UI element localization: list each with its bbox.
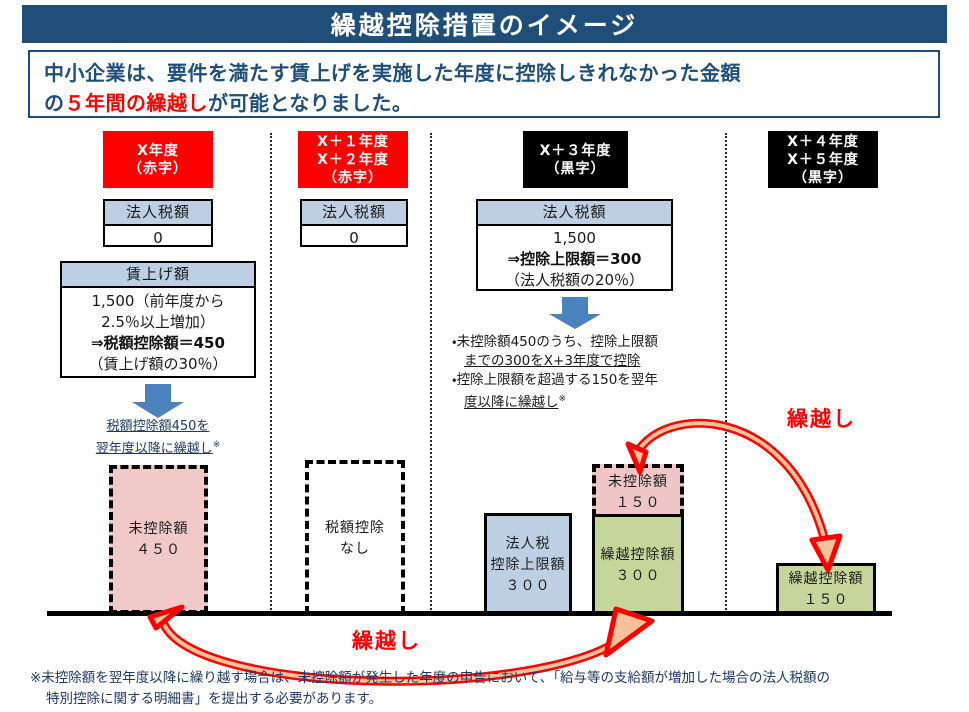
page-title-bar: 繰越控除措置のイメージ (22, 5, 947, 43)
tax-table-x1-x2: 法人税額 0 (300, 199, 408, 247)
column-divider-2 (430, 133, 432, 614)
carryover-note-x-line1: 税額控除額450を (107, 419, 210, 434)
carryover-arrow-right-label: 繰越し (787, 403, 856, 433)
bar-no-deduction-label1: 税額控除 (325, 518, 385, 539)
raise-table-x-line4: （賃上げ額の30％） (66, 354, 250, 375)
column-divider-1 (270, 133, 272, 614)
carryover-note-x: 税額控除額450を 翌年度以降に繰越し※ (60, 418, 256, 458)
bar-undeducted-150: 未控除額 １５０ (592, 464, 684, 517)
bullet-item-1-line2: までの300をX+3年度で控除 (464, 353, 640, 369)
raise-table-x-line2: 2.5％以上増加） (66, 312, 250, 333)
year-chip-x3: X＋３年度 （黒字） (523, 131, 628, 188)
page-title: 繰越控除措置のイメージ (331, 6, 639, 42)
year-chip-x: X年度 （赤字） (103, 131, 213, 188)
raise-table-x-header: 賃上げ額 (62, 263, 254, 288)
bullets-x3: ・未控除額450のうち、控除上限額 までの300をX+3年度で控除 ・控除上限額… (452, 333, 714, 413)
tax-table-x3-line2: ⇒控除上限額＝300 (482, 249, 667, 270)
bullet-item-2-line1: 控除上限額を超過する150を翌年 (457, 372, 658, 388)
bar-carryover-deduction-150-label: 繰越控除額 (789, 569, 864, 590)
year-chip-x1-x2-line2: X＋２年度 (317, 151, 389, 169)
bar-no-deduction: 税額控除 なし (305, 460, 405, 614)
bar-undeducted-450-value: ４５０ (136, 540, 181, 561)
bar-carryover-deduction-300-label: 繰越控除額 (601, 545, 676, 566)
footnote-line-2: 特別控除に関する明細書」を提出する必要があります。 (30, 689, 950, 710)
bar-undeducted-450: 未控除額 ４５０ (109, 465, 208, 614)
bar-undeducted-150-label: 未控除額 (608, 472, 668, 493)
bar-carryover-deduction-150: 繰越控除額 １５０ (776, 563, 876, 614)
carryover-note-x-mark: ※ (213, 440, 221, 450)
year-chip-x4-x5: X＋４年度 X＋５年度 （黒字） (768, 131, 878, 188)
bullet-item-1-line1: 未控除額450のうち、控除上限額 (457, 334, 658, 350)
tax-table-x3: 法人税額 1,500 ⇒控除上限額＝300 （法人税額の20％） (476, 199, 673, 291)
year-chip-x-line1: X年度 (137, 142, 179, 160)
tax-table-x3-line1: 1,500 (482, 228, 667, 249)
raise-table-x-line3: ⇒税額控除額＝450 (66, 333, 250, 354)
footnote-line-1: ※未控除額を翌年度以降に繰り越す場合は、未控除額が発生した年度の申告において、「… (30, 668, 950, 689)
down-arrow-icon-2 (545, 297, 605, 329)
carryover-arrow-bottom-label: 繰越し (352, 625, 421, 655)
tax-table-x3-header: 法人税額 (478, 201, 671, 226)
bar-undeducted-450-label: 未控除額 (129, 519, 189, 540)
chart-baseline (47, 611, 892, 616)
tax-table-x3-line3: （法人税額の20％） (482, 270, 667, 291)
carryover-note-x-line2: 翌年度以降に繰越し (96, 441, 213, 456)
year-chip-x3-line2: （黒字） (546, 160, 606, 178)
subtitle-line-2: の５年間の繰越しが可能となりました。 (44, 88, 926, 118)
year-chip-x1-x2: X＋１年度 X＋２年度 （赤字） (298, 131, 408, 188)
bullet-item-2-sup: ※ (559, 394, 567, 404)
raise-table-x-line1: 1,500（前年度から (66, 291, 250, 312)
bar-corporate-tax-limit-300: 法人税 控除上限額 ３００ (484, 513, 572, 614)
subtitle-line2-post: が可能となりました。 (208, 91, 412, 115)
bar-carryover-deduction-150-value: １５０ (804, 590, 849, 611)
subtitle-line-1: 中小企業は、要件を満たす賃上げを実施した年度に控除しきれなかった金額 (44, 58, 926, 88)
bar-corporate-tax-limit-300-label1: 法人税 (506, 534, 551, 555)
subtitle-line2-pre: の (44, 91, 65, 115)
column-divider-3 (725, 133, 727, 614)
tax-table-x1-x2-header: 法人税額 (302, 201, 406, 226)
bar-carryover-deduction-300: 繰越控除額 ３００ (592, 514, 684, 614)
tax-table-x1-x2-value: 0 (302, 226, 406, 251)
bar-no-deduction-label2: なし (340, 539, 370, 560)
footnote: ※未控除額を翌年度以降に繰り越す場合は、未控除額が発生した年度の申告において、「… (30, 668, 950, 710)
year-chip-x4-x5-line1: X＋４年度 (787, 133, 859, 151)
bar-carryover-deduction-300-value: ３００ (616, 566, 661, 587)
bullet-item-1: ・未控除額450のうち、控除上限額 までの300をX+3年度で控除 (452, 333, 714, 371)
year-chip-x-line2: （赤字） (128, 160, 188, 178)
tax-table-x: 法人税額 0 (103, 199, 213, 247)
bar-undeducted-150-value: １５０ (616, 493, 661, 514)
year-chip-x1-x2-line1: X＋１年度 (317, 133, 389, 151)
year-chip-x4-x5-line3: （黒字） (793, 169, 853, 187)
bar-corporate-tax-limit-300-label2: 控除上限額 (491, 555, 566, 576)
year-chip-x3-line1: X＋３年度 (540, 142, 612, 160)
bullet-item-2: ・控除上限額を超過する150を翌年 度以降に繰越し※ (452, 371, 714, 413)
bullet-item-2-line2: 度以降に繰越し (464, 395, 559, 411)
diagram-canvas: 繰越控除措置のイメージ 中小企業は、要件を満たす賃上げを実施した年度に控除しきれ… (0, 0, 969, 712)
down-arrow-icon-1 (128, 384, 188, 418)
subtitle-box: 中小企業は、要件を満たす賃上げを実施した年度に控除しきれなかった金額 の５年間の… (28, 50, 940, 118)
tax-table-x-value: 0 (105, 226, 211, 251)
tax-table-x-header: 法人税額 (105, 201, 211, 226)
year-chip-x4-x5-line2: X＋５年度 (787, 151, 859, 169)
raise-table-x: 賃上げ額 1,500（前年度から 2.5％以上増加） ⇒税額控除額＝450 （賃… (60, 261, 256, 378)
subtitle-line2-highlight: ５年間の繰越し (65, 91, 209, 115)
year-chip-x1-x2-line3: （赤字） (323, 169, 383, 187)
bar-corporate-tax-limit-300-value: ３００ (506, 576, 551, 597)
